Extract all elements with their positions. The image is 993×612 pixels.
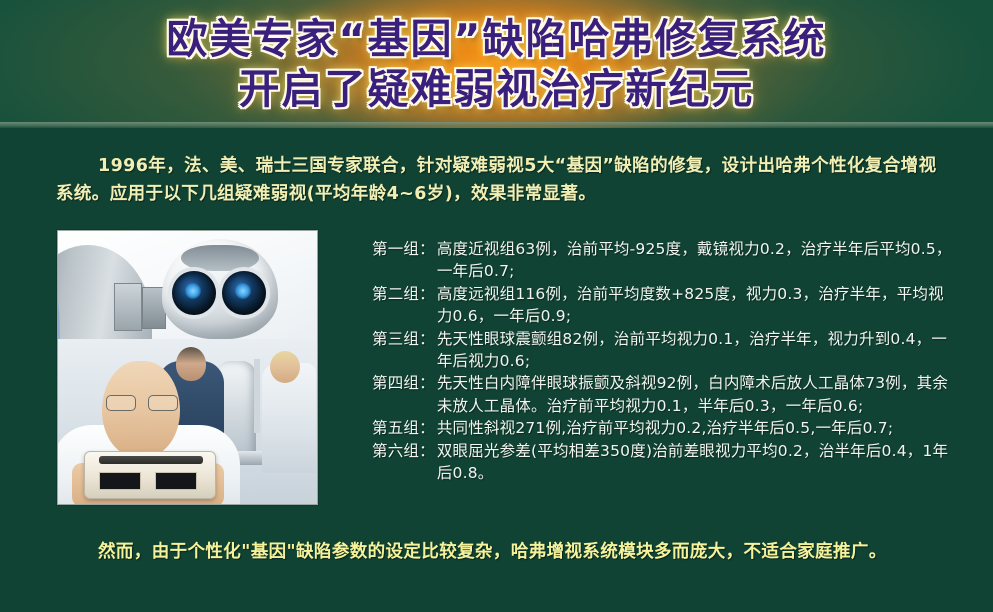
- group-label: 第二组：: [372, 283, 437, 305]
- group-text: 先天性白内障伴眼球振颤及斜视92例，白内障术后放人工晶体73例，其余未放人工晶体…: [437, 372, 954, 417]
- group-label: 第四组：: [372, 372, 437, 394]
- clinic-photo-collage: [57, 230, 318, 505]
- group-label: 第六组：: [372, 440, 437, 462]
- group-text: 共同性斜视271例,治疗前平均视力0.2,治疗半年后0.5,一年后0.7;: [437, 417, 954, 439]
- closing-paragraph: 然而，由于个性化"基因"缺陷参数的设定比较复杂，哈弗增视系统模块多而庞大，不适合…: [56, 538, 956, 566]
- machine-panel-icon: [114, 283, 142, 331]
- device-top-bar: [99, 456, 203, 464]
- glasses-right-lens: [148, 395, 178, 411]
- list-item: 第二组： 高度远视组116例，治前平均度数+825度，视力0.3，治疗半年，平均…: [372, 283, 954, 328]
- clinic-device-arm: [254, 359, 260, 433]
- list-item: 第三组： 先天性眼球震颤组82例，治前平均视力0.1，治疗半年，视力升到0.4，…: [372, 328, 954, 373]
- title-line-1: 欧美专家“基因”缺陷哈弗修复系统: [167, 17, 827, 61]
- patient-head: [270, 351, 300, 383]
- group-label: 第一组：: [372, 238, 437, 260]
- treatment-group-list: 第一组： 高度近视组63例，治前平均-925度，戴镜视力0.2，治疗半年后平均0…: [372, 238, 954, 484]
- poster-title: 欧美专家“基因”缺陷哈弗修复系统 开启了疑难弱视治疗新纪元: [0, 0, 993, 128]
- group-label: 第三组：: [372, 328, 437, 350]
- photo-lower-scene: [58, 339, 317, 504]
- title-line-2: 开启了疑难弱视治疗新纪元: [239, 67, 755, 111]
- list-item: 第四组： 先天性白内障伴眼球振颤及斜视92例，白内障术后放人工晶体73例，其余未…: [372, 372, 954, 417]
- vision-training-device-icon: [84, 451, 216, 499]
- group-text: 高度近视组63例，治前平均-925度，戴镜视力0.2，治疗半年后平均0.5，一年…: [437, 238, 954, 283]
- doctor-glasses-icon: [104, 395, 178, 409]
- list-item: 第一组： 高度近视组63例，治前平均-925度，戴镜视力0.2，治疗半年后平均0…: [372, 238, 954, 283]
- group-text: 双眼屈光参差(平均相差350度)治前差眼视力平均0.2，治半年后0.4，1年后0…: [437, 440, 954, 485]
- intro-paragraph: 1996年，法、美、瑞士三国专家联合，针对疑难弱视5大“基因”缺陷的修复，设计出…: [56, 152, 946, 208]
- device-right-aperture: [155, 472, 197, 490]
- device-left-aperture: [99, 472, 141, 490]
- glasses-left-lens: [106, 395, 136, 411]
- group-label: 第五组：: [372, 417, 437, 439]
- robot-left-lens-icon: [172, 271, 216, 315]
- group-text: 先天性眼球震颤组82例，治前平均视力0.1，治疗半年，视力升到0.4，一年后视力…: [437, 328, 954, 373]
- poster-root: 欧美专家“基因”缺陷哈弗修复系统 开启了疑难弱视治疗新纪元 1996年，法、美、…: [0, 0, 993, 612]
- robot-visor: [181, 245, 259, 271]
- robot-right-lens-icon: [222, 271, 266, 315]
- background-clinician-head: [176, 347, 206, 381]
- group-text: 高度远视组116例，治前平均度数+825度，视力0.3，治疗半年，平均视力0.6…: [437, 283, 954, 328]
- list-item: 第六组： 双眼屈光参差(平均相差350度)治前差眼视力平均0.2，治半年后0.4…: [372, 440, 954, 485]
- autorefractor-head-icon: [162, 239, 278, 339]
- list-item: 第五组： 共同性斜视271例,治疗前平均视力0.2,治疗半年后0.5,一年后0.…: [372, 417, 954, 439]
